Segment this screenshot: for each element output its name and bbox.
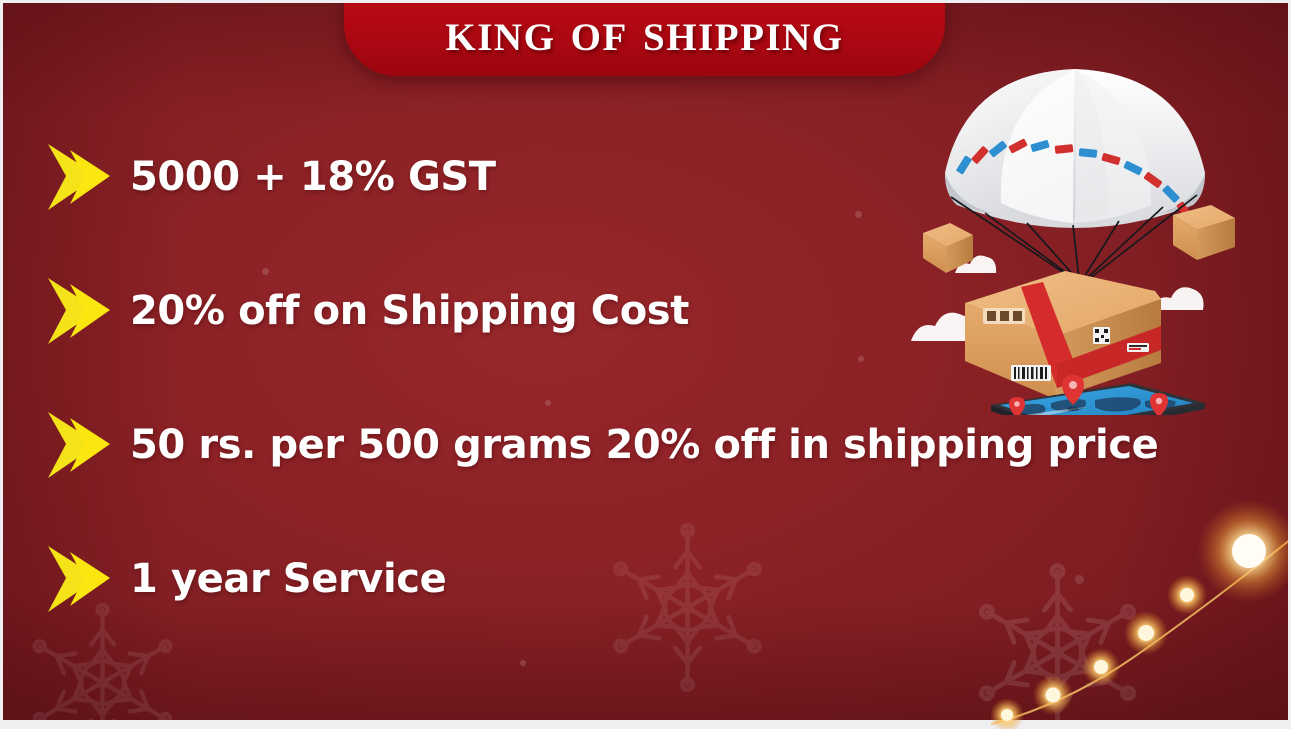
feature-label: 50 rs. per 500 grams 20% off in shipping… (130, 425, 1158, 465)
page-title: King of Shipping (445, 4, 843, 76)
promotional-banner: King of Shipping (0, 0, 1291, 729)
feature-label: 1 year Service (130, 559, 446, 599)
list-item: 5000 + 18% GST (44, 140, 1224, 214)
left-edge-strip (0, 0, 3, 729)
chevron-right-icon (44, 140, 116, 214)
bottom-edge-strip (0, 720, 1291, 729)
feature-label: 20% off on Shipping Cost (130, 291, 689, 331)
list-item: 20% off on Shipping Cost (44, 274, 1224, 348)
banner-title-plate: King of Shipping (344, 0, 945, 76)
chevron-right-icon (44, 408, 116, 482)
chevron-right-icon (44, 542, 116, 616)
top-edge-strip (0, 0, 1291, 3)
list-item: 50 rs. per 500 grams 20% off in shipping… (44, 408, 1224, 482)
background-speck (520, 660, 526, 666)
chevron-right-icon (44, 274, 116, 348)
feature-label: 5000 + 18% GST (130, 157, 496, 197)
feature-list: 5000 + 18% GST 20% off on Shipping Cost … (44, 140, 1224, 616)
list-item: 1 year Service (44, 542, 1224, 616)
